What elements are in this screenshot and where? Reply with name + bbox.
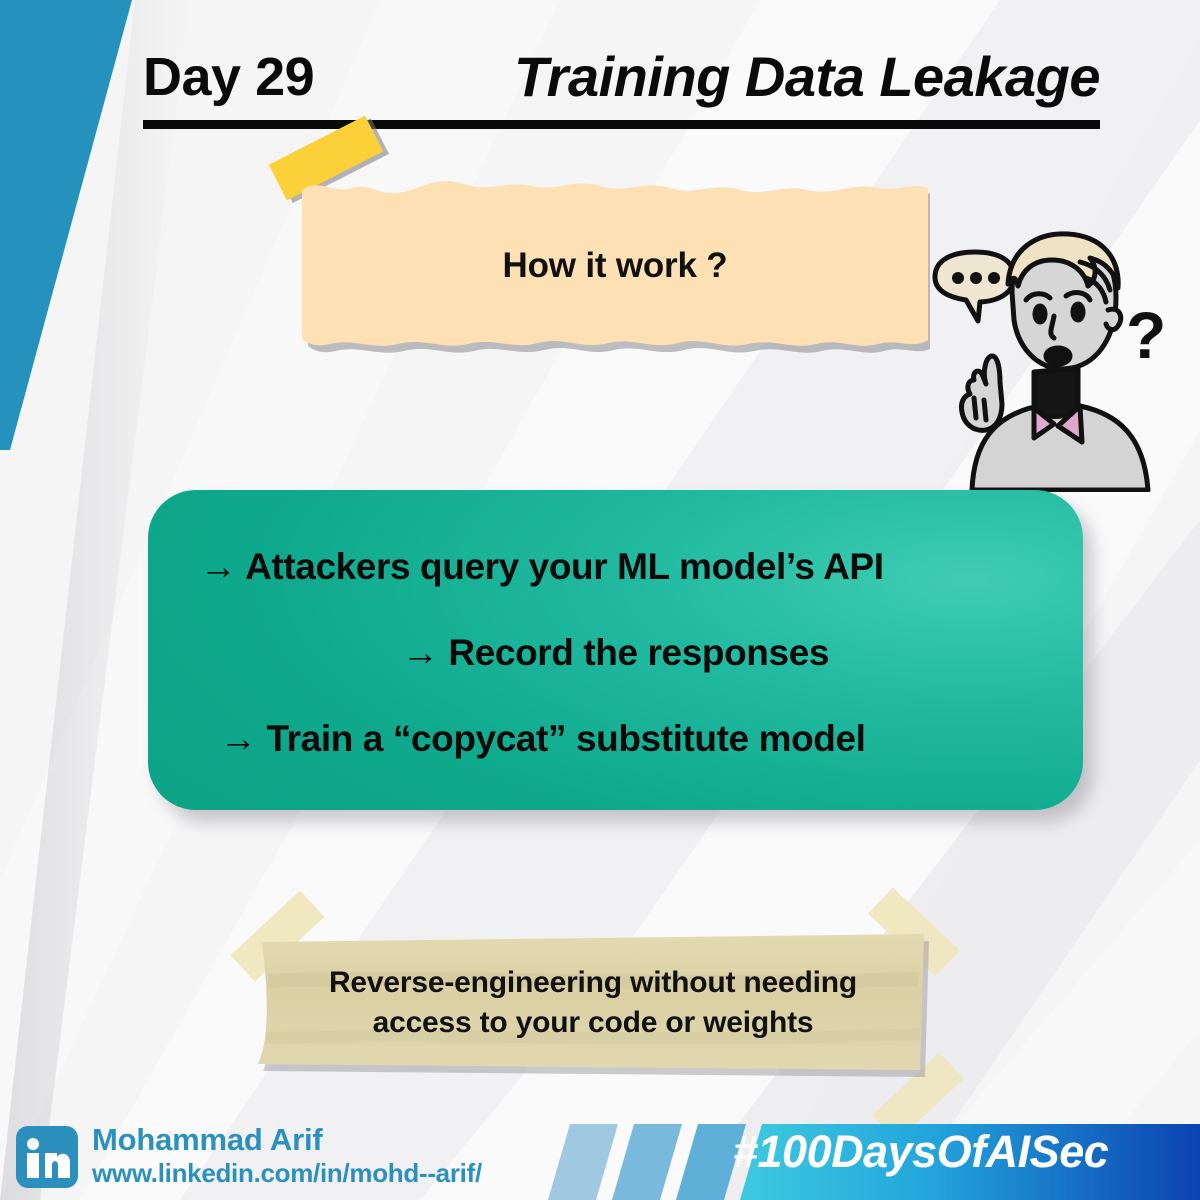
infographic-canvas: Day 29 Training Data Leakage How it work… [0,0,1200,1200]
linkedin-icon-svg [16,1126,78,1188]
summary-line-1: Reverse-engineering without needing [329,966,857,1000]
step-line-1: → Attackers query your ML model’s API [148,546,1083,588]
step-line-2: → Record the responses [148,632,1083,674]
header-divider [143,120,1100,129]
summary-line-2: access to your code or weights [373,1006,814,1040]
hashtag-label: #100DaysOfAISec [733,1126,1108,1178]
summary-text: Reverse-engineering without needing acce… [248,928,938,1078]
author-profile-url[interactable]: www.linkedin.com/in/mohd--arif/ [92,1158,482,1189]
how-it-works-label: How it work ? [300,168,930,363]
question-mark-glyph: ? [1126,298,1166,372]
step-line-3: → Train a “copycat” substitute model [148,718,1083,760]
how-it-works-card: → Attackers query your ML model’s API → … [148,490,1083,810]
confused-person-svg: ? [930,222,1180,492]
speech-dots [952,272,1000,284]
linkedin-icon[interactable] [16,1126,78,1188]
author-name: Mohammad Arif [92,1122,323,1158]
confused-person-icon: ? [930,222,1180,492]
page-title: Training Data Leakage [514,44,1100,109]
how-it-works-note: How it work ? [300,168,930,363]
day-counter: Day 29 [143,46,314,108]
summary-note: Reverse-engineering without needing acce… [248,928,938,1093]
